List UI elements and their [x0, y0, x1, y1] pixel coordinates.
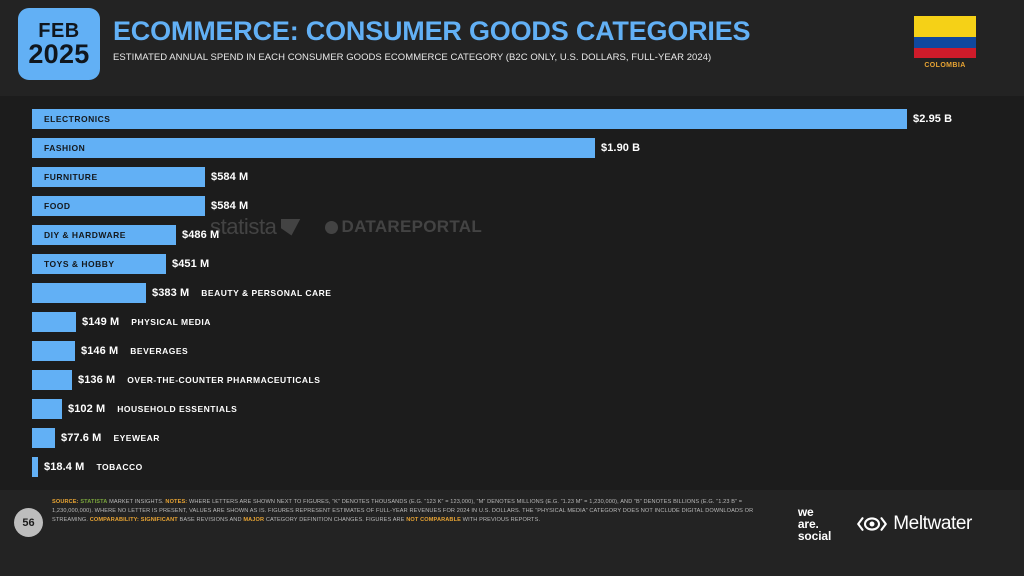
source-name: STATISTA [80, 499, 107, 505]
bar-category-label: TOBACCO [96, 462, 142, 472]
comparability-text-1: BASE REVISIONS AND [179, 517, 241, 523]
bar-value-label: $451 M [172, 258, 209, 270]
bar [32, 341, 75, 361]
bar-row: $149 MPHYSICAL MEDIA [32, 307, 1024, 336]
page-number-badge: 56 [14, 508, 43, 537]
bar [32, 457, 38, 477]
bar: FURNITURE [32, 167, 205, 187]
bar: TOYS & HOBBY [32, 254, 166, 274]
bar [32, 428, 55, 448]
bar-category-label: FASHION [32, 143, 85, 153]
bar-row: FASHION$1.90 B [32, 133, 1024, 162]
bar-category-label: PHYSICAL MEDIA [131, 317, 211, 327]
bar-value-label: $383 M [152, 287, 189, 299]
bar: FOOD [32, 196, 205, 216]
bar-value-label: $149 M [82, 316, 119, 328]
footnotes: SOURCE: STATISTA MARKET INSIGHTS. NOTES:… [52, 498, 764, 524]
bar-row: TOYS & HOBBY$451 M [32, 249, 1024, 278]
source-suffix: MARKET INSIGHTS. [109, 499, 164, 505]
meltwater-wordmark: Meltwater [893, 513, 972, 535]
date-badge-month: FEB [38, 21, 80, 41]
bar-value-label: $584 M [211, 171, 248, 183]
date-badge: FEB 2025 [18, 8, 100, 80]
slide: FEB 2025 ECOMMERCE: CONSUMER GOODS CATEG… [0, 0, 1024, 576]
country-label: COLOMBIA [914, 62, 976, 69]
bar-category-label: BEAUTY & PERSONAL CARE [201, 288, 331, 298]
bar [32, 399, 62, 419]
bar [32, 370, 72, 390]
bar-category-label: TOYS & HOBBY [32, 259, 115, 269]
bar-row: $146 MBEVERAGES [32, 336, 1024, 365]
bar-row: FURNITURE$584 M [32, 162, 1024, 191]
bar-value-label: $77.6 M [61, 432, 101, 444]
bar-row: $102 MHOUSEHOLD ESSENTIALS [32, 394, 1024, 423]
bar [32, 283, 146, 303]
page-title: ECOMMERCE: CONSUMER GOODS CATEGORIES [113, 17, 864, 45]
bar-category-label: OVER-THE-COUNTER PHARMACEUTICALS [127, 375, 320, 385]
slide-header: FEB 2025 ECOMMERCE: CONSUMER GOODS CATEG… [0, 0, 1024, 96]
bar-value-label: $584 M [211, 200, 248, 212]
brand-logos: we are. social Meltwater [798, 506, 972, 543]
bar-value-label: $102 M [68, 403, 105, 415]
bar-row: DIY & HARDWARE$486 M [32, 220, 1024, 249]
bar-row: ELECTRONICS$2.95 B [32, 104, 1024, 133]
chart-area: statista DATAREPORTAL ELECTRONICS$2.95 B… [0, 96, 1024, 490]
bar-row: $18.4 MTOBACCO [32, 452, 1024, 481]
meltwater-logo: Meltwater [857, 513, 972, 535]
bar-value-label: $486 M [182, 229, 219, 241]
bar [32, 312, 76, 332]
page-subtitle: ESTIMATED ANNUAL SPEND IN EACH CONSUMER … [113, 52, 864, 63]
bar-value-label: $146 M [81, 345, 118, 357]
bar-row: FOOD$584 M [32, 191, 1024, 220]
flag-band-blue [914, 37, 976, 48]
comparability-significant: SIGNIFICANT [141, 517, 178, 523]
comparability-major: MAJOR [243, 517, 264, 523]
bar-category-label: ELECTRONICS [32, 114, 110, 124]
flag-band-yellow [914, 16, 976, 37]
bar: DIY & HARDWARE [32, 225, 176, 245]
bar-category-label: FOOD [32, 201, 71, 211]
bar-category-label: EYEWEAR [113, 433, 159, 443]
comparability-label: COMPARABILITY: [90, 517, 139, 523]
we-are-social-logo: we are. social [798, 506, 831, 543]
bar-value-label: $136 M [78, 374, 115, 386]
title-block: ECOMMERCE: CONSUMER GOODS CATEGORIES EST… [113, 17, 864, 63]
we-are-social-line3: social [798, 530, 831, 542]
bar-category-label: DIY & HARDWARE [32, 230, 126, 240]
comparability-text-2: CATEGORY DEFINITION CHANGES. FIGURES ARE [266, 517, 405, 523]
bar-chart-rows: ELECTRONICS$2.95 BFASHION$1.90 BFURNITUR… [0, 104, 1024, 481]
date-badge-year: 2025 [28, 41, 89, 68]
comparability-not-comparable: NOT COMPARABLE [406, 517, 461, 523]
flag-band-red [914, 48, 976, 59]
country-flag-block: COLOMBIA [914, 16, 976, 69]
bar-category-label: BEVERAGES [130, 346, 188, 356]
bar-value-label: $1.90 B [601, 142, 640, 154]
comparability-text-3: WITH PREVIOUS REPORTS. [463, 517, 540, 523]
bar-row: $383 MBEAUTY & PERSONAL CARE [32, 278, 1024, 307]
bar-row: $77.6 MEYEWEAR [32, 423, 1024, 452]
notes-label: NOTES: [165, 499, 187, 505]
source-label: SOURCE: [52, 499, 79, 505]
bar-value-label: $18.4 M [44, 461, 84, 473]
bar: FASHION [32, 138, 595, 158]
colombia-flag-icon [914, 16, 976, 58]
bar-category-label: HOUSEHOLD ESSENTIALS [117, 404, 237, 414]
bar-value-label: $2.95 B [913, 113, 952, 125]
meltwater-eye-icon [857, 516, 887, 532]
bar: ELECTRONICS [32, 109, 907, 129]
bar-category-label: FURNITURE [32, 172, 98, 182]
bar-row: $136 MOVER-THE-COUNTER PHARMACEUTICALS [32, 365, 1024, 394]
slide-footer: 56 SOURCE: STATISTA MARKET INSIGHTS. NOT… [0, 490, 1024, 576]
